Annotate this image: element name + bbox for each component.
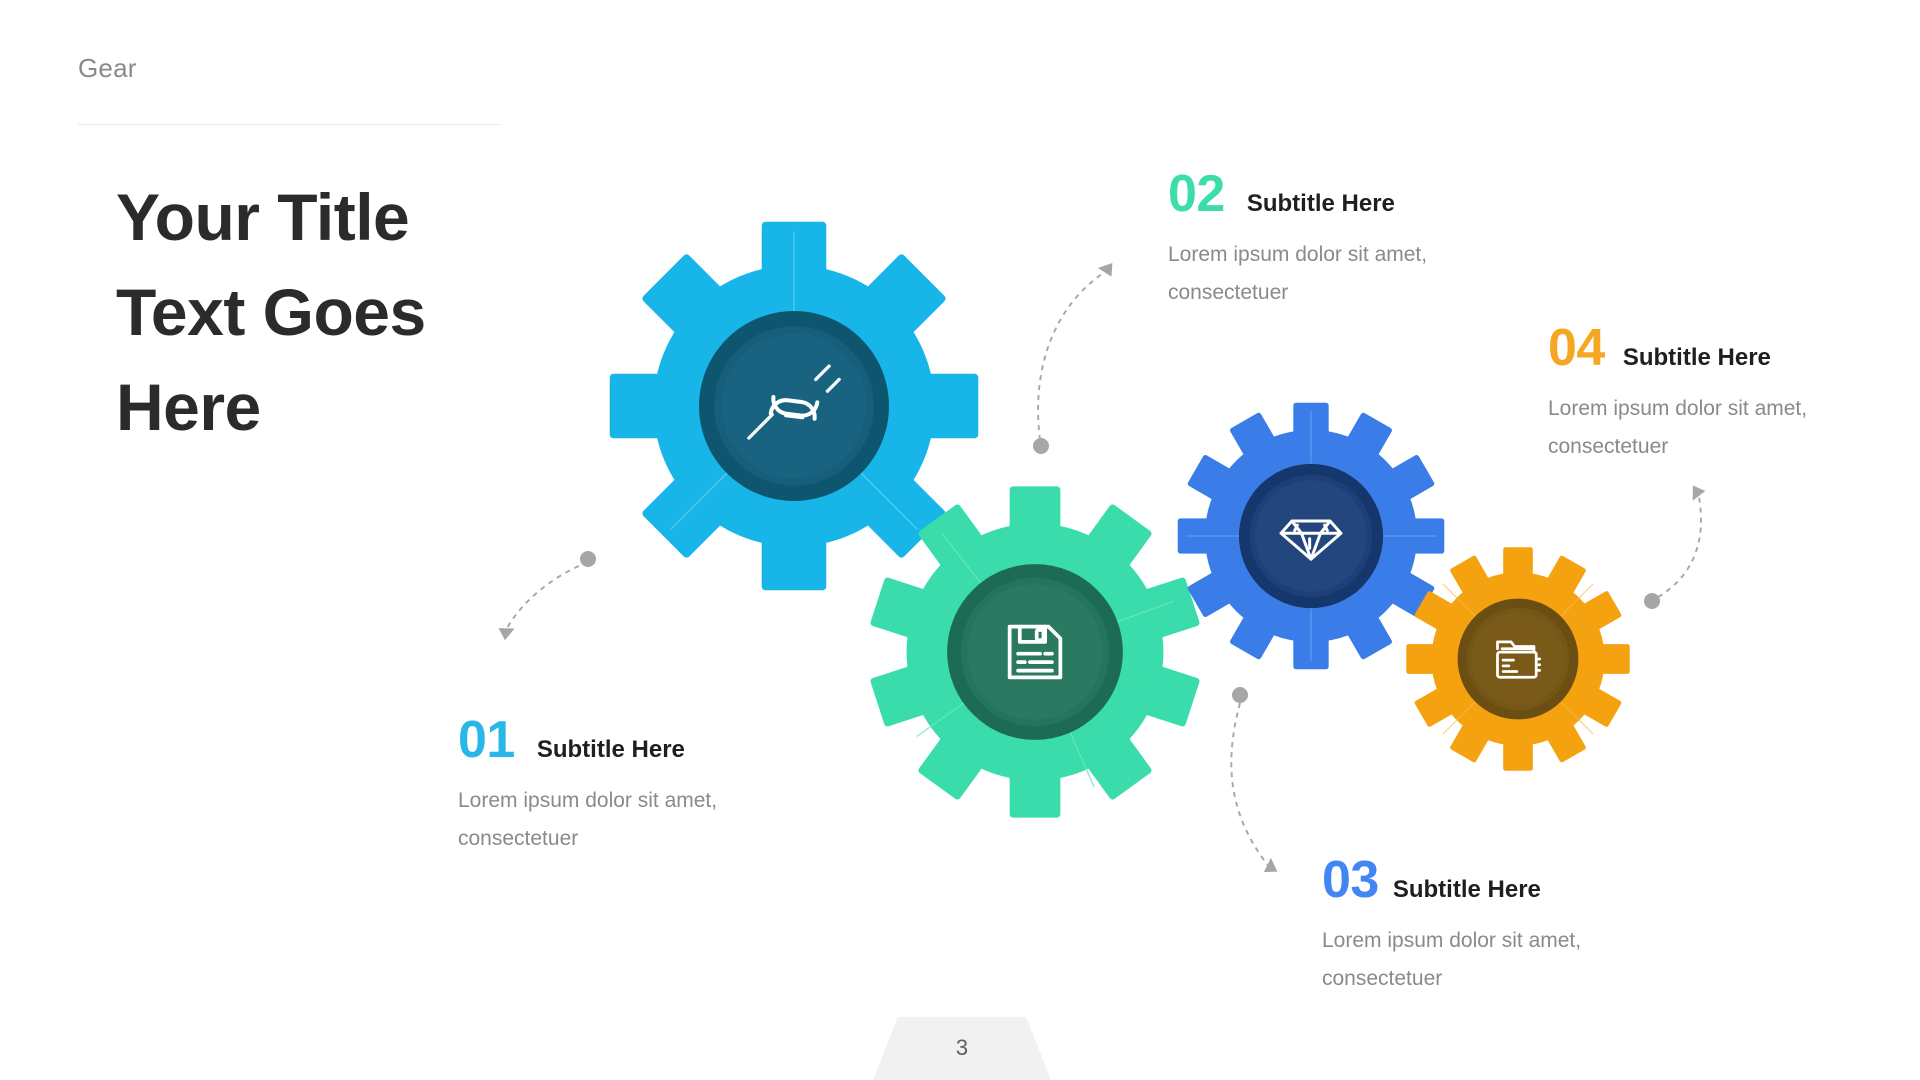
callout-02-subtitle: Subtitle Here (1247, 189, 1395, 219)
callout-01-subtitle: Subtitle Here (537, 735, 685, 765)
callout-04-head: 04 Subtitle Here (1548, 320, 1888, 376)
gear-green[interactable] (866, 483, 1204, 821)
callout-01-body: Lorem ipsum dolor sit amet, consectetuer (458, 782, 798, 858)
callout-03-subtitle: Subtitle Here (1393, 875, 1541, 905)
page-title-line-2: Text Goes (116, 265, 536, 360)
connector-03 (1231, 687, 1270, 868)
page-number: 3 (873, 1035, 1051, 1061)
callout-03-number: 03 (1322, 852, 1379, 908)
callout-02-body: Lorem ipsum dolor sit amet, consectetuer (1168, 236, 1508, 312)
callout-03-head: 03 Subtitle Here (1322, 852, 1662, 908)
header-divider (78, 124, 500, 125)
gear-blue-hub (1239, 464, 1383, 608)
connector-02 (1033, 270, 1108, 454)
gear-orange-hub (1458, 599, 1579, 720)
callout-04: 04 Subtitle Here Lorem ipsum dolor sit a… (1548, 320, 1888, 466)
callout-03: 03 Subtitle Here Lorem ipsum dolor sit a… (1322, 852, 1662, 998)
gear-orange[interactable] (1404, 545, 1632, 773)
callout-04-number: 04 (1548, 320, 1605, 376)
callout-04-subtitle: Subtitle Here (1623, 343, 1771, 373)
connector-01 (505, 551, 596, 632)
callout-02-head: 02 Subtitle Here (1168, 166, 1508, 222)
gear-cyan-hub (699, 311, 889, 501)
callout-03-body: Lorem ipsum dolor sit amet, consectetuer (1322, 922, 1662, 998)
callout-02: 02 Subtitle Here Lorem ipsum dolor sit a… (1168, 166, 1508, 312)
callout-02-number: 02 (1168, 166, 1225, 222)
page-title-line-1: Your Title (116, 170, 536, 265)
callout-01-head: 01 Subtitle Here (458, 712, 798, 768)
connector-04 (1644, 492, 1701, 609)
page-title: Your Title Text Goes Here (116, 170, 536, 455)
slide-header: Gear (78, 52, 500, 84)
callout-04-body: Lorem ipsum dolor sit amet, consectetuer (1548, 390, 1888, 466)
callout-01: 01 Subtitle Here Lorem ipsum dolor sit a… (458, 712, 798, 858)
callout-01-number: 01 (458, 712, 515, 768)
page-title-line-3: Here (116, 360, 536, 455)
slide-canvas: Gear Your Title Text Goes Here (0, 0, 1920, 1080)
page-number-tab: 3 (873, 1017, 1051, 1080)
header-label: Gear (78, 52, 500, 84)
